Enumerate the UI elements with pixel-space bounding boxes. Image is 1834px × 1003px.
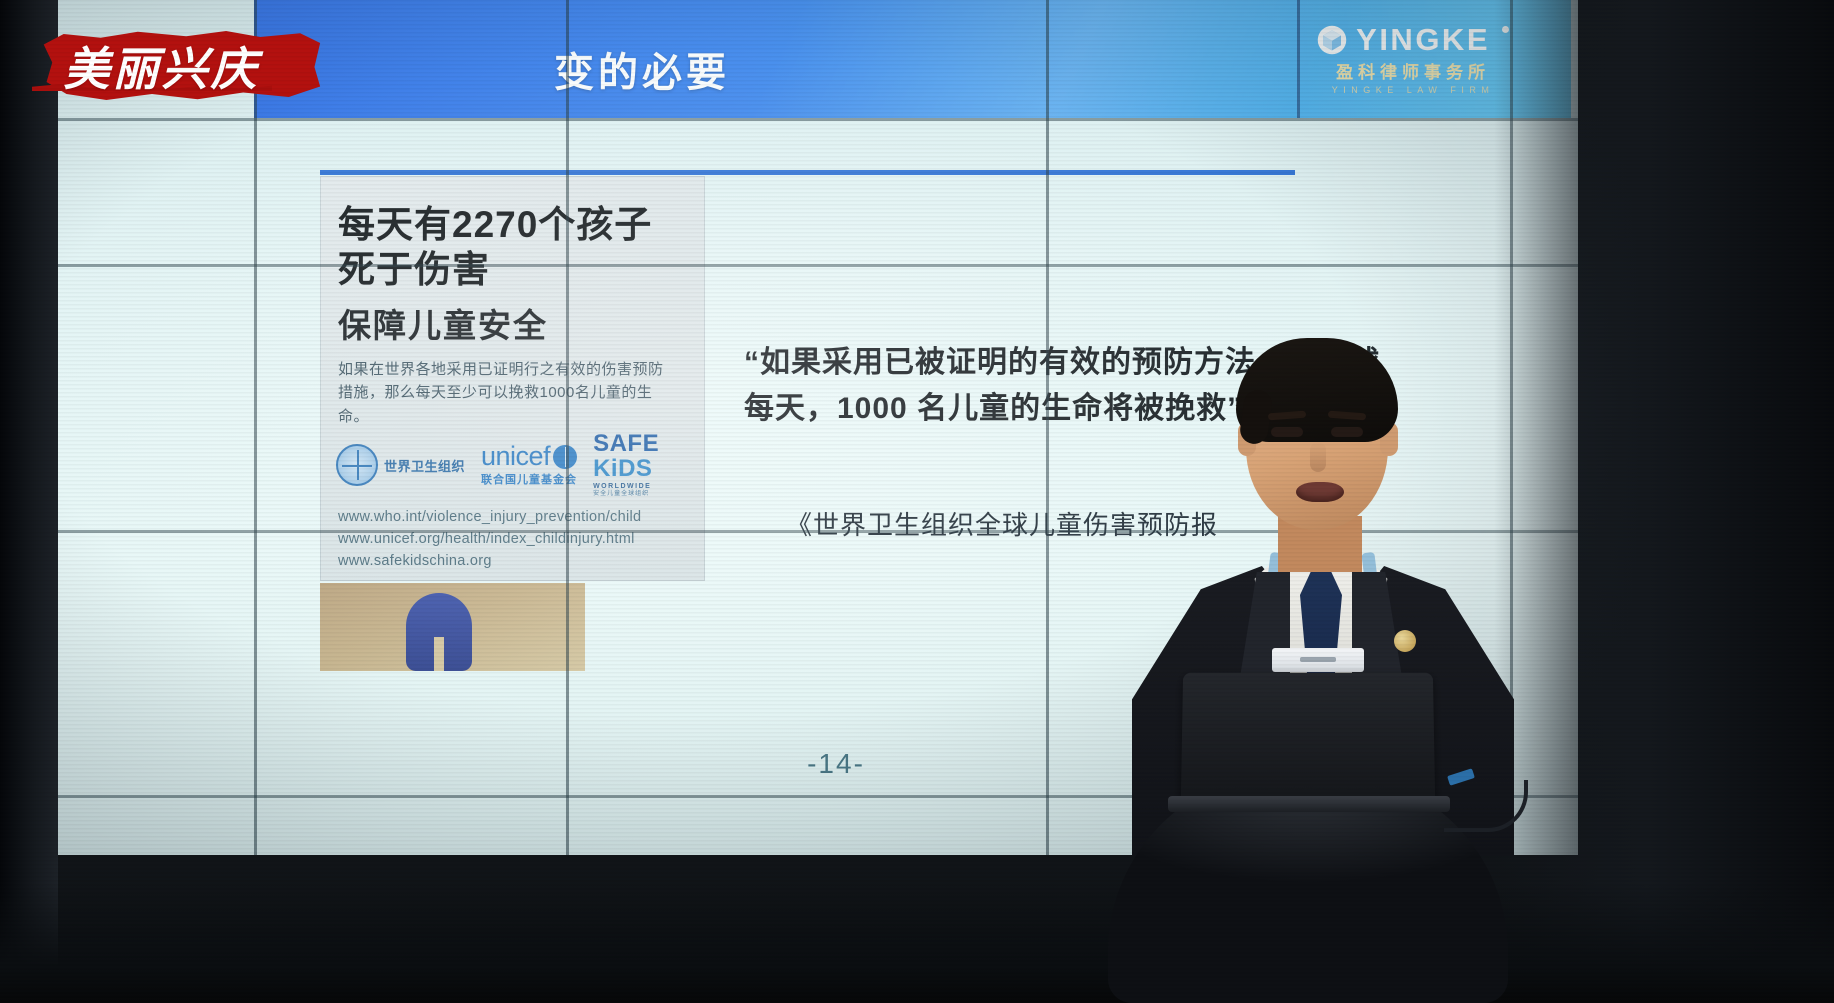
speaker-hair [1236,338,1398,442]
speaker-nose [1310,442,1326,472]
speaker-eye-left [1271,427,1303,437]
video-frame: 变的必要 YINGKE 盈科律师事务所 YINGKE LAW FIRM [0,0,1834,1003]
channel-watermark: 美丽兴庆 [38,28,323,103]
name-badge-card [1272,648,1364,672]
laptop-base [1168,796,1450,812]
laptop-screen [1181,673,1435,801]
watermark-text: 美丽兴庆 [38,28,323,103]
room-right-wall [1494,0,1834,1003]
room-floor [0,883,1834,1003]
speaker-eye-right [1331,427,1363,437]
room-left-wall [0,0,58,1003]
lapel-pin-icon [1394,630,1416,652]
speaker-mouth [1296,482,1344,502]
